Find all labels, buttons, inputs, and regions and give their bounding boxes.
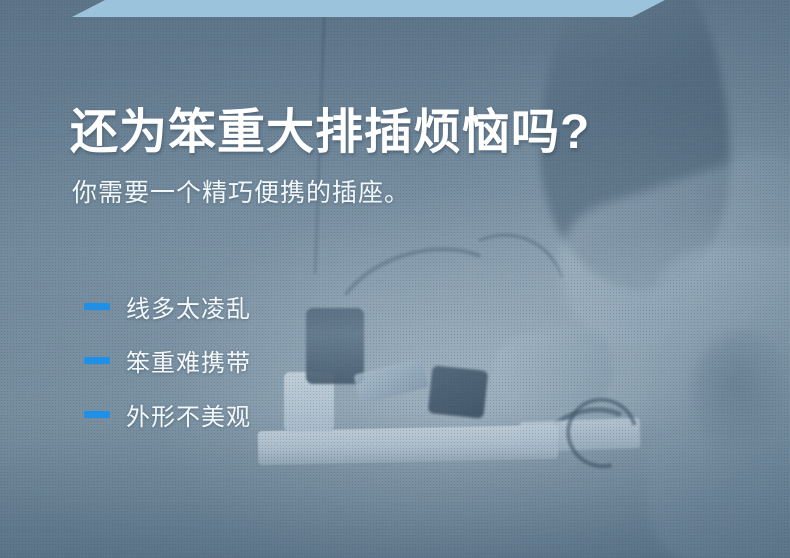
pain-point-label: 笨重难携带 [126,343,251,378]
pain-point-label: 外形不美观 [126,397,251,432]
pain-point-label: 线多太凌乱 [126,289,251,324]
list-item: 线多太凌乱 [84,292,251,320]
product-banner: 还为笨重大排插烦恼吗? 你需要一个精巧便携的插座。 线多太凌乱 笨重难携带 外形… [0,0,790,558]
list-item: 笨重难携带 [84,346,251,374]
dash-marker-icon [84,357,110,364]
subheadline-text: 你需要一个精巧便携的插座。 [72,178,410,208]
headline-text: 还为笨重大排插烦恼吗? [70,107,590,159]
dash-marker-icon [84,411,110,418]
dash-marker-icon [84,303,110,310]
pain-point-list: 线多太凌乱 笨重难携带 外形不美观 [84,292,251,454]
list-item: 外形不美观 [84,400,251,428]
banner-content: 还为笨重大排插烦恼吗? 你需要一个精巧便携的插座。 线多太凌乱 笨重难携带 外形… [0,0,790,558]
